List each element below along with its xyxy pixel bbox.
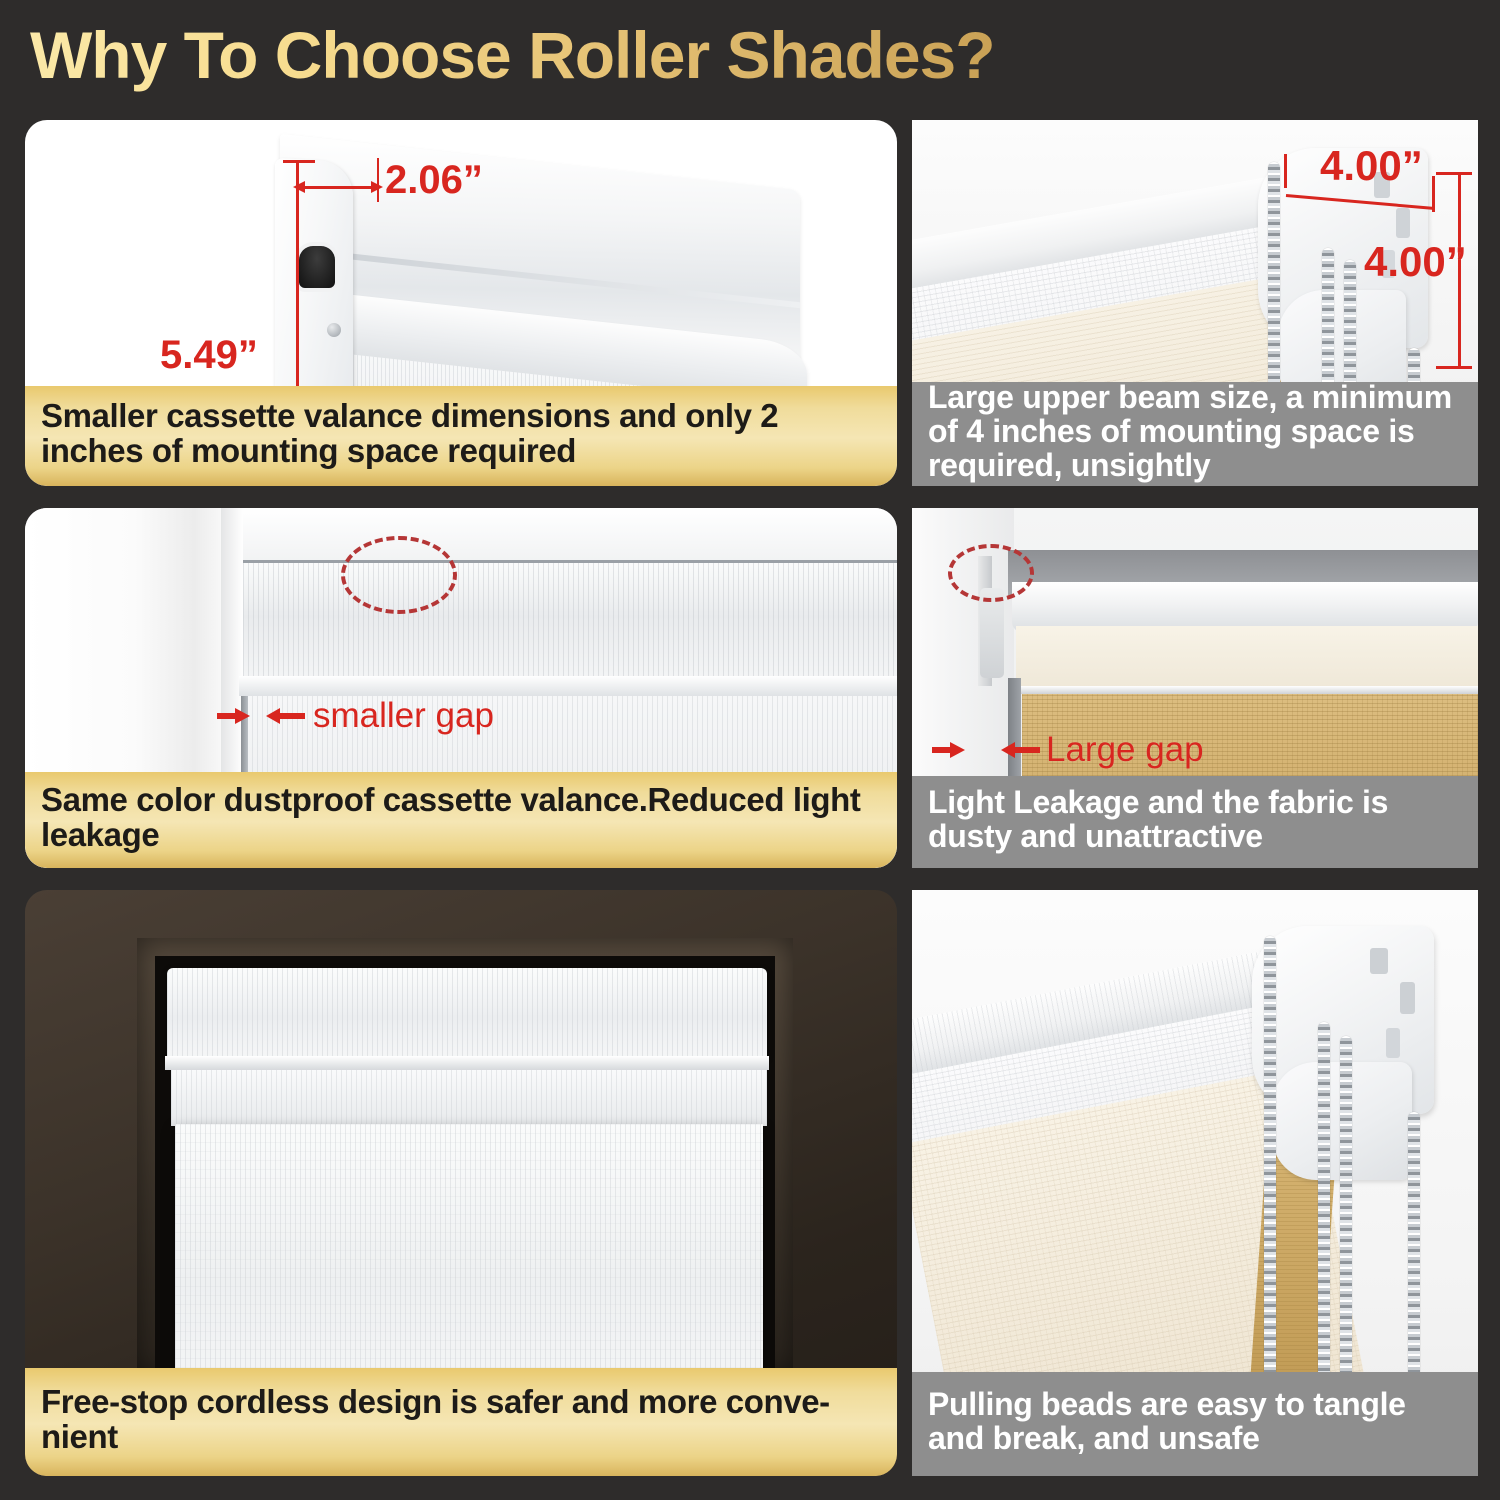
panel-con-large-beam: 4.00” 4.00” Large upper beam size, a min… (912, 120, 1478, 486)
arrow-right-icon (369, 179, 385, 195)
annotation-height-dimension: 4.00” (1364, 238, 1467, 286)
panel-pro-cordless: Free-stop cordless design is safer and m… (25, 890, 897, 1476)
highlight-circle-gap (948, 544, 1034, 602)
caption-pro-cassette-dimensions: Smaller cassette valance dimensions and … (25, 386, 897, 486)
caption-con-large-gap: Light Leakage and the fabric is dusty an… (912, 776, 1478, 868)
panel-con-large-gap: Large gap Light Leakage and the fabric i… (912, 508, 1478, 868)
page-title: Why To Choose Roller Shades? (30, 17, 995, 93)
header-bar: Why To Choose Roller Shades? (0, 0, 1500, 112)
bead-chain-icon (1408, 1112, 1420, 1388)
bead-chain-icon (1340, 1036, 1352, 1388)
annotation-width-dimension: 4.00” (1320, 142, 1423, 190)
panel-pro-smaller-gap: smaller gap Same color dustproof cassett… (25, 508, 897, 868)
panel-pro-cassette-dimensions: 2.06” 5.49” Smaller cassette valance dim… (25, 120, 897, 486)
annotation-gap-callout: smaller gap (313, 696, 494, 736)
bead-chain-icon (1318, 1022, 1330, 1388)
caption-pro-smaller-gap: Same color dustproof cassette valance.Re… (25, 772, 897, 868)
panel-con-pull-beads: Pulling beads are easy to tangle and bre… (912, 890, 1478, 1476)
arrow-left-icon (265, 706, 305, 726)
annotation-height-dimension: 5.49” (160, 333, 258, 378)
annotation-gap-callout: Large gap (1046, 730, 1204, 770)
caption-con-pull-beads: Pulling beads are easy to tangle and bre… (912, 1372, 1478, 1476)
arrow-right-icon (932, 740, 966, 760)
bead-chain-icon (1264, 936, 1276, 1388)
caption-pro-cordless: Free-stop cordless design is safer and m… (25, 1368, 897, 1476)
arrow-right-icon (217, 706, 251, 726)
highlight-circle-gap (341, 536, 457, 614)
annotation-width-dimension: 2.06” (385, 158, 483, 203)
caption-con-large-beam: Large upper beam size, a minimum of 4 in… (912, 382, 1478, 486)
arrow-left-icon (291, 179, 307, 195)
arrow-left-icon (1000, 740, 1040, 760)
